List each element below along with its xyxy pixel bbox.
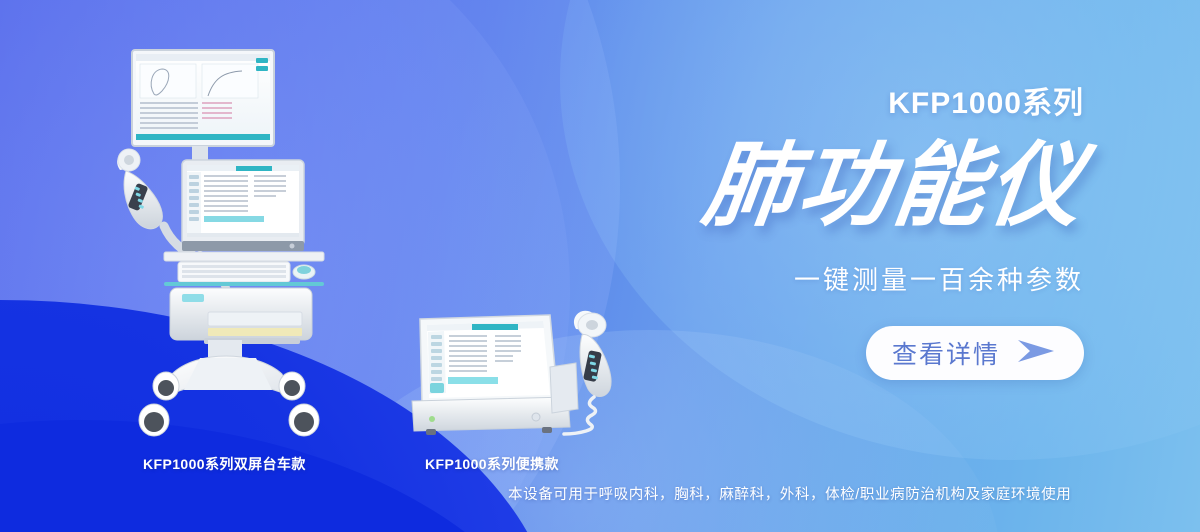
- product-banner: KFP1000系列双屏台车款 KFP1000系列便携款 KFP1000系列 肺功…: [0, 0, 1200, 532]
- cart-handheld-sensor: [117, 149, 162, 229]
- product-image-portable: [400, 305, 640, 445]
- caption-cart: KFP1000系列双屏台车款: [143, 454, 306, 474]
- view-details-button[interactable]: 查看详情: [866, 326, 1084, 380]
- usage-footnote: 本设备可用于呼吸内科，胸科，麻醉科，外科，体检/职业病防治机构及家庭环境使用: [508, 483, 1071, 504]
- portable-base: [412, 397, 570, 435]
- cart-top-monitor: [132, 50, 274, 167]
- product-image-cart: [96, 44, 346, 444]
- portable-sensor-dock: [550, 363, 578, 413]
- cart-base: [139, 356, 319, 436]
- cart-column: [208, 340, 242, 358]
- subtitle: 一键测量一百余种参数: [624, 264, 1084, 296]
- arrow-right-icon: [1014, 337, 1058, 370]
- portable-display: [420, 315, 558, 405]
- cart-keyboard-tray: [164, 252, 324, 286]
- cta-row: 查看详情: [624, 326, 1084, 380]
- page-title: 肺功能仪: [618, 138, 1090, 234]
- caption-portable: KFP1000系列便携款: [425, 454, 559, 474]
- copy-block: KFP1000系列 肺功能仪 一键测量一百余种参数 查看详情: [624, 84, 1084, 380]
- cart-main-unit: [170, 288, 312, 344]
- view-details-label: 查看详情: [892, 335, 1000, 371]
- cart-main-touchscreen: [182, 160, 304, 251]
- eyebrow-series-label: KFP1000系列: [624, 84, 1084, 124]
